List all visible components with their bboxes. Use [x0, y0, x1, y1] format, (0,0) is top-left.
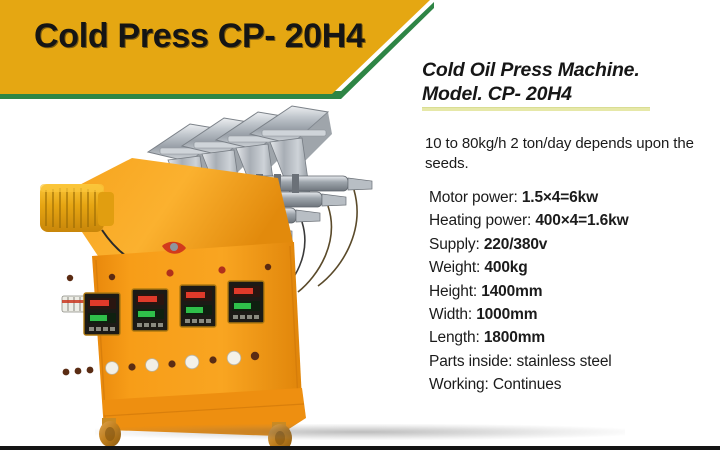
push-button[interactable] [227, 351, 241, 365]
spec-row: Working: Continues [429, 373, 719, 396]
spec-label: Parts inside: [429, 353, 517, 370]
indicator-lamp [265, 264, 271, 270]
spec-value: 400×4=1.6kw [535, 212, 628, 229]
panel-knob[interactable] [87, 367, 94, 374]
product-subtitle-line1: Cold Oil Press Machine. [422, 58, 714, 82]
spec-value: stainless steel [517, 353, 612, 370]
indicator-lamp [166, 269, 173, 276]
spec-label: Height: [429, 283, 481, 300]
spec-label: Weight: [429, 259, 484, 276]
spec-row: Motor power: 1.5×4=6kw [429, 186, 719, 209]
panel-knob[interactable] [209, 356, 216, 363]
spec-value: Continues [493, 376, 561, 393]
spec-value: 1400mm [481, 283, 542, 300]
spec-label: Length: [429, 329, 484, 346]
page-title: Cold Press CP- 20H4 [34, 17, 365, 56]
spec-row: Height: 1400mm [429, 280, 719, 303]
capacity-description: 10 to 80kg/h 2 ton/day depends upon the … [425, 134, 715, 174]
machine-photo [40, 100, 400, 448]
product-subtitle-line2: Model. CP- 20H4 [422, 82, 714, 106]
temperature-controller-1[interactable] [84, 293, 120, 335]
spec-value: 400kg [484, 259, 527, 276]
floor-shadow [95, 424, 625, 440]
title-banner: Cold Press CP- 20H4 [0, 0, 430, 100]
spec-label: Supply: [429, 236, 484, 253]
product-advertisement-image: Cold Press CP- 20H4 Cold Oil Press Machi… [0, 0, 720, 450]
spec-row: Width: 1000mm [429, 303, 719, 326]
push-button[interactable] [146, 359, 159, 372]
push-button[interactable] [106, 362, 119, 375]
temperature-controller-2[interactable] [132, 289, 168, 331]
panel-knob[interactable] [128, 363, 135, 370]
spec-row: Parts inside: stainless steel [429, 350, 719, 373]
push-button[interactable] [185, 355, 199, 369]
panel-knob[interactable] [168, 360, 175, 367]
spec-row: Heating power: 400×4=1.6kw [429, 209, 719, 232]
spec-row: Weight: 400kg [429, 256, 719, 279]
product-subtitle: Cold Oil Press Machine. Model. CP- 20H4 [422, 58, 714, 106]
spec-row: Supply: 220/380v [429, 233, 719, 256]
bottom-bar [0, 446, 720, 450]
indicator-lamp [67, 275, 73, 281]
specification-list: Motor power: 1.5×4=6kwHeating power: 400… [429, 186, 719, 397]
spec-value: 1.5×4=6kw [522, 189, 598, 206]
spec-label: Working: [429, 376, 493, 393]
indicator-lamp [218, 266, 225, 273]
panel-knob[interactable] [63, 369, 70, 376]
panel-knob[interactable] [251, 352, 259, 360]
panel-knob[interactable] [75, 368, 82, 375]
electric-motor [40, 184, 126, 256]
spec-label: Heating power: [429, 212, 535, 229]
spec-row: Length: 1800mm [429, 326, 719, 349]
temperature-controller-4[interactable] [228, 281, 264, 323]
spec-value: 1000mm [476, 306, 537, 323]
subtitle-divider [422, 107, 650, 111]
spec-value: 1800mm [484, 329, 545, 346]
spec-label: Motor power: [429, 189, 522, 206]
spec-label: Width: [429, 306, 476, 323]
indicator-lamp [109, 274, 115, 280]
temperature-controller-3[interactable] [180, 285, 216, 327]
spec-value: 220/380v [484, 236, 547, 253]
